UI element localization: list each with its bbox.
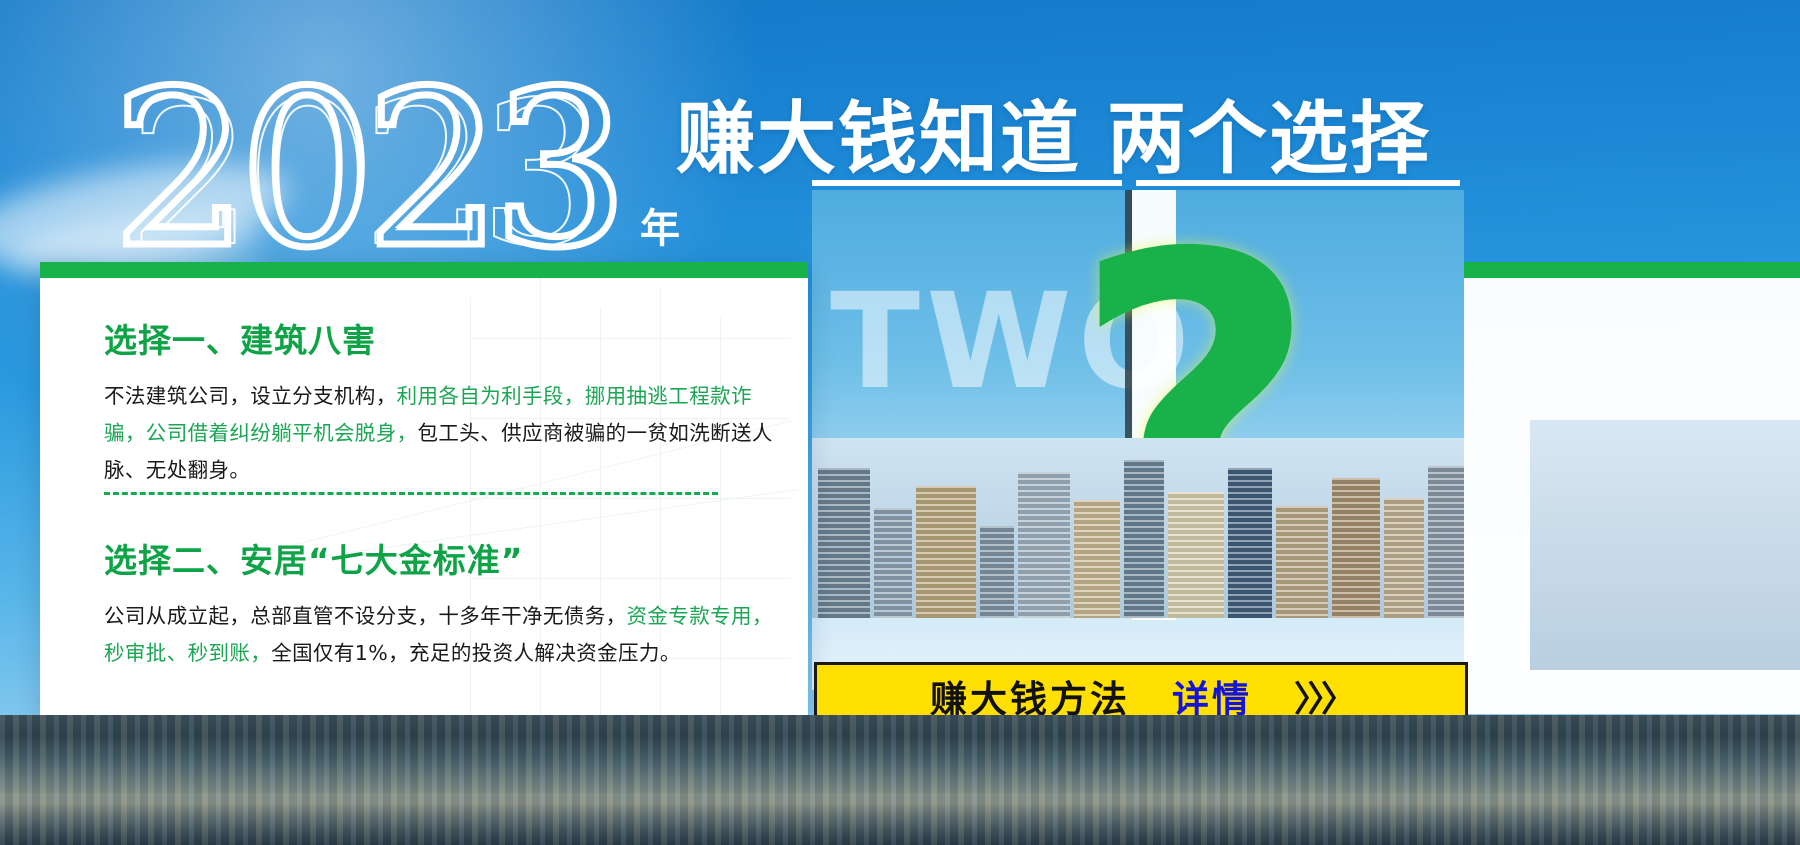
year-suffix-label: 年 — [640, 196, 682, 254]
chevron-right-icon: 〉〉〉 — [1294, 671, 1352, 722]
choices-visual-panel: TWO CHOICES ? — [812, 190, 1464, 690]
page-title: 赚大钱知道两个选择 — [676, 74, 1431, 189]
headline-rule-left — [812, 180, 1122, 186]
headline-rule-right — [1136, 180, 1460, 186]
section-one-title: 选择一、建筑八害 — [104, 314, 782, 362]
city-skyline-photo — [812, 438, 1464, 618]
card-section-two: 选择二、安居“七大金标准” 公司从成立起，总部直管不设分支，十多年干净无债务，资… — [104, 534, 782, 672]
para-run: 不法建筑公司，设立分支机构， — [104, 384, 397, 408]
water-reflection — [0, 793, 1800, 845]
bottom-photo-strip — [0, 715, 1800, 845]
section-one-paragraph: 不法建筑公司，设立分支机构，利用各自为利手段，挪用抽逃工程款诈骗，公司借着纠纷躺… — [104, 378, 782, 489]
headline-part2: 两个选择 — [1107, 93, 1431, 185]
section-two-title: 选择二、安居“七大金标准” — [104, 534, 782, 582]
content-card: 选择一、建筑八害 不法建筑公司，设立分支机构，利用各自为利手段，挪用抽逃工程款诈… — [40, 262, 808, 722]
right-green-accent-bar — [1464, 262, 1800, 278]
year-outline-inner: 2023 — [128, 76, 596, 274]
section-two-paragraph: 公司从成立起，总部直管不设分支，十多年干净无债务，资金专款专用，秒审批、秒到账，… — [104, 598, 782, 672]
right-photo-strip — [1530, 420, 1800, 670]
card-top-accent — [40, 262, 808, 278]
para-run: 公司从成立起，总部直管不设分支，十多年干净无债务， — [104, 604, 627, 628]
section-divider — [104, 492, 718, 495]
headline-part1: 赚大钱知道 — [676, 93, 1081, 185]
para-run: 全国仅有1%，充足的投资人解决资金压力。 — [271, 641, 681, 665]
promo-poster: 2023 2023 年 赚大钱知道两个选择 TWO CHOICES ? — [0, 0, 1800, 845]
card-section-one: 选择一、建筑八害 不法建筑公司，设立分支机构，利用各自为利手段，挪用抽逃工程款诈… — [104, 314, 782, 489]
